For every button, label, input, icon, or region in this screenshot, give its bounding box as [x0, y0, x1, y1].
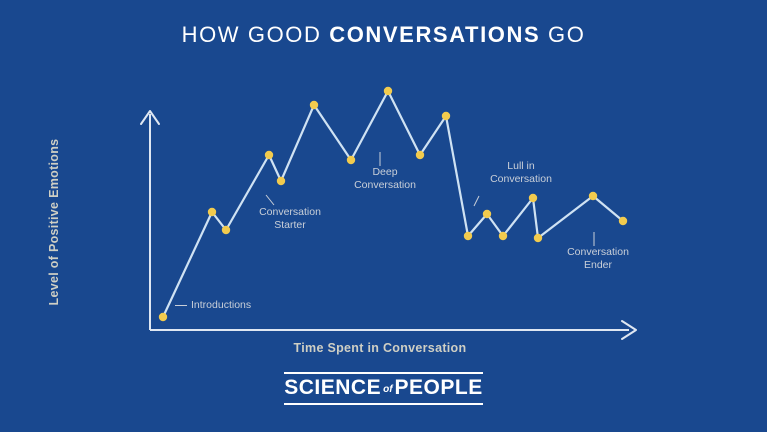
- data-point: [442, 112, 450, 120]
- data-point: [159, 313, 167, 321]
- annotation-conversation-starter: Conversation Starter: [240, 206, 340, 231]
- brand-word-science: SCIENCE: [284, 376, 381, 399]
- leader-dash: [175, 305, 187, 306]
- data-line: [163, 91, 623, 317]
- data-point: [347, 156, 355, 164]
- infographic-canvas: HOW GOOD CONVERSATIONS GO Level of Posit…: [0, 0, 767, 432]
- y-axis-title: Level of Positive Emotions: [47, 107, 61, 337]
- annotation-lull-in-conversation: Lull in Conversation: [466, 160, 576, 185]
- brand-logo: SCIENCEofPEOPLE: [0, 372, 767, 405]
- data-point: [464, 232, 472, 240]
- data-point: [208, 208, 216, 216]
- data-point: [222, 226, 230, 234]
- data-point: [310, 101, 318, 109]
- brand-logo-text: SCIENCEofPEOPLE: [284, 376, 483, 401]
- brand-logo-frame: SCIENCEofPEOPLE: [284, 372, 483, 405]
- data-point: [534, 234, 542, 242]
- annotation-introductions-label: Introductions: [191, 299, 251, 311]
- data-point: [529, 194, 537, 202]
- data-point: [277, 177, 285, 185]
- data-point: [416, 151, 424, 159]
- data-point: [483, 210, 491, 218]
- data-point: [619, 217, 627, 225]
- connector-lull-in-conversation: [474, 196, 479, 206]
- data-point-group: [159, 87, 627, 321]
- data-point: [589, 192, 597, 200]
- data-point: [265, 151, 273, 159]
- brand-connector-of: of: [381, 384, 394, 395]
- brand-word-people: PEOPLE: [395, 376, 483, 399]
- annotation-deep-conversation: Deep Conversation: [337, 166, 433, 191]
- annotation-conversation-ender: Conversation Ender: [545, 246, 651, 271]
- data-point: [499, 232, 507, 240]
- annotation-introductions: Introductions: [175, 299, 251, 312]
- line-chart: [0, 0, 767, 432]
- connector-conversation-starter: [266, 195, 274, 205]
- x-axis-title: Time Spent in Conversation: [180, 341, 580, 355]
- data-point: [384, 87, 392, 95]
